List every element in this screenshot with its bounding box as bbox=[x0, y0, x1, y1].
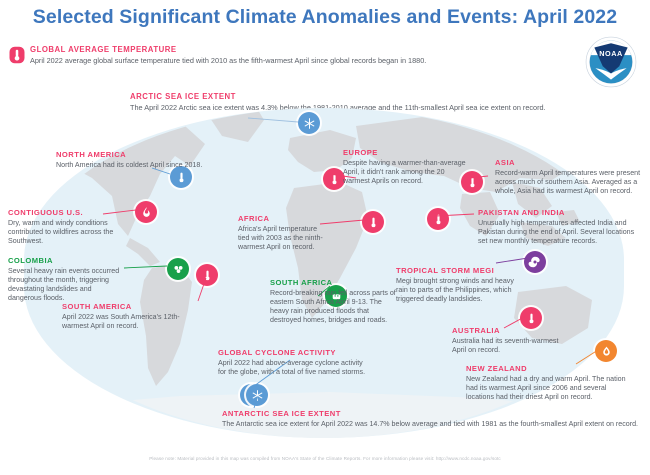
tropical-storm-megi-heading: TROPICAL STORM MEGI bbox=[396, 266, 518, 276]
tropical-storm-megi-body: Megi brought strong winds and heavy rain… bbox=[396, 277, 518, 305]
pin-new-zealand-drought[interactable] bbox=[595, 340, 617, 362]
europe-body: Despite having a warmer-than-average Apr… bbox=[343, 159, 467, 187]
callout-south-america: SOUTH AMERICA April 2022 was South Ameri… bbox=[62, 302, 197, 331]
south-africa-body: Record-breaking rain fell across parts o… bbox=[270, 289, 398, 326]
africa-body: Africa's April temperature tied with 200… bbox=[238, 225, 328, 253]
south-america-heading: SOUTH AMERICA bbox=[62, 302, 197, 312]
global-average-temperature-body: April 2022 average global surface temper… bbox=[30, 56, 426, 66]
asia-heading: ASIA bbox=[495, 158, 645, 168]
wildfire-icon bbox=[140, 206, 153, 219]
callout-north-america: NORTH AMERICA North America had its cold… bbox=[56, 150, 206, 170]
thermometer-icon bbox=[525, 312, 538, 325]
pakistan-and-india-heading: PAKISTAN AND INDIA bbox=[478, 208, 643, 218]
cyclone-icon bbox=[528, 255, 542, 269]
global-average-temperature-heading: GLOBAL AVERAGE TEMPERATURE bbox=[30, 45, 426, 55]
pin-south-america-thermometer[interactable] bbox=[196, 264, 218, 286]
pin-tropical-storm-megi-cyclone[interactable] bbox=[524, 251, 546, 273]
colombia-body: Several heavy rain events occurred throu… bbox=[8, 267, 126, 304]
callout-antarctic-sea-ice-extent: ANTARCTIC SEA ICE EXTENT The Antarctic s… bbox=[222, 409, 642, 429]
contiguous-us-body: Dry, warm and windy conditions contribut… bbox=[8, 219, 128, 247]
sea-ice-icon bbox=[251, 389, 264, 402]
pakistan-and-india-body: Unusually high temperatures affected Ind… bbox=[478, 219, 643, 247]
new-zealand-heading: NEW ZEALAND bbox=[466, 364, 631, 374]
pin-antarctic-sea-ice[interactable] bbox=[246, 384, 268, 406]
noaa-logo: NOAA bbox=[585, 36, 637, 88]
australia-heading: AUSTRALIA bbox=[452, 326, 562, 336]
contiguous-us-heading: CONTIGUOUS U.S. bbox=[8, 208, 128, 218]
callout-asia: ASIA Record-warm April temperatures were… bbox=[495, 158, 645, 196]
page-title: Selected Significant Climate Anomalies a… bbox=[0, 6, 650, 29]
pin-europe-thermometer[interactable] bbox=[323, 168, 345, 190]
asia-body: Record-warm April temperatures were pres… bbox=[495, 169, 645, 197]
antarctic-sea-ice-extent-body: The Antarctic sea ice extent for April 2… bbox=[222, 420, 642, 429]
callout-pakistan-and-india: PAKISTAN AND INDIA Unusually high temper… bbox=[478, 208, 643, 246]
drought-icon bbox=[600, 345, 613, 358]
pin-contiguous-us-wildfire[interactable] bbox=[135, 201, 157, 223]
antarctic-sea-ice-extent-heading: ANTARCTIC SEA ICE EXTENT bbox=[222, 409, 642, 419]
callout-colombia: COLOMBIA Several heavy rain events occur… bbox=[8, 256, 126, 303]
callout-south-africa: SOUTH AFRICA Record-breaking rain fell a… bbox=[270, 278, 398, 325]
pin-pakistan-india-thermometer[interactable] bbox=[427, 208, 449, 230]
north-america-body: North America had its coldest April sinc… bbox=[56, 161, 206, 170]
new-zealand-body: New Zealand had a dry and warm April. Th… bbox=[466, 375, 631, 403]
world-map: NORTH AMERICA North America had its cold… bbox=[0, 96, 650, 451]
thermometer-icon bbox=[367, 216, 380, 229]
flood-icon bbox=[172, 263, 185, 276]
thermometer-icon bbox=[175, 171, 188, 184]
thermometer-icon bbox=[328, 173, 341, 186]
callout-europe: EUROPE Despite having a warmer-than-aver… bbox=[343, 148, 467, 186]
thermometer-icon bbox=[201, 269, 214, 282]
global-average-temperature-callout: GLOBAL AVERAGE TEMPERATURE April 2022 av… bbox=[8, 45, 426, 66]
australia-body: Australia had its seventh-warmest April … bbox=[452, 337, 562, 355]
pin-colombia-flood[interactable] bbox=[167, 258, 189, 280]
south-africa-heading: SOUTH AFRICA bbox=[270, 278, 398, 288]
thermometer-icon bbox=[432, 213, 445, 226]
sea-ice-icon bbox=[303, 117, 316, 130]
colombia-heading: COLOMBIA bbox=[8, 256, 126, 266]
callout-africa: AFRICA Africa's April temperature tied w… bbox=[238, 214, 328, 252]
pin-africa-thermometer[interactable] bbox=[362, 211, 384, 233]
south-america-body: April 2022 was South America's 12th-warm… bbox=[62, 313, 197, 331]
noaa-logo-icon: NOAA bbox=[585, 36, 637, 88]
callout-global-cyclone-activity: GLOBAL CYCLONE ACTIVITY April 2022 had a… bbox=[218, 348, 366, 377]
global-cyclone-activity-heading: GLOBAL CYCLONE ACTIVITY bbox=[218, 348, 366, 358]
europe-heading: EUROPE bbox=[343, 148, 467, 158]
thermometer-icon bbox=[8, 46, 26, 69]
footer-note: Please note: Material provided in this m… bbox=[0, 455, 650, 462]
callout-tropical-storm-megi: TROPICAL STORM MEGI Megi brought strong … bbox=[396, 266, 518, 304]
global-cyclone-activity-body: April 2022 had above-average cyclone act… bbox=[218, 359, 366, 377]
africa-heading: AFRICA bbox=[238, 214, 328, 224]
callout-contiguous-us: CONTIGUOUS U.S. Dry, warm and windy cond… bbox=[8, 208, 128, 246]
north-america-heading: NORTH AMERICA bbox=[56, 150, 206, 160]
svg-text:NOAA: NOAA bbox=[599, 49, 623, 58]
callout-new-zealand: NEW ZEALAND New Zealand had a dry and wa… bbox=[466, 364, 631, 402]
callout-australia: AUSTRALIA Australia had its seventh-warm… bbox=[452, 326, 562, 355]
pin-arctic-sea-ice[interactable] bbox=[298, 112, 320, 134]
thermometer-icon bbox=[466, 176, 479, 189]
